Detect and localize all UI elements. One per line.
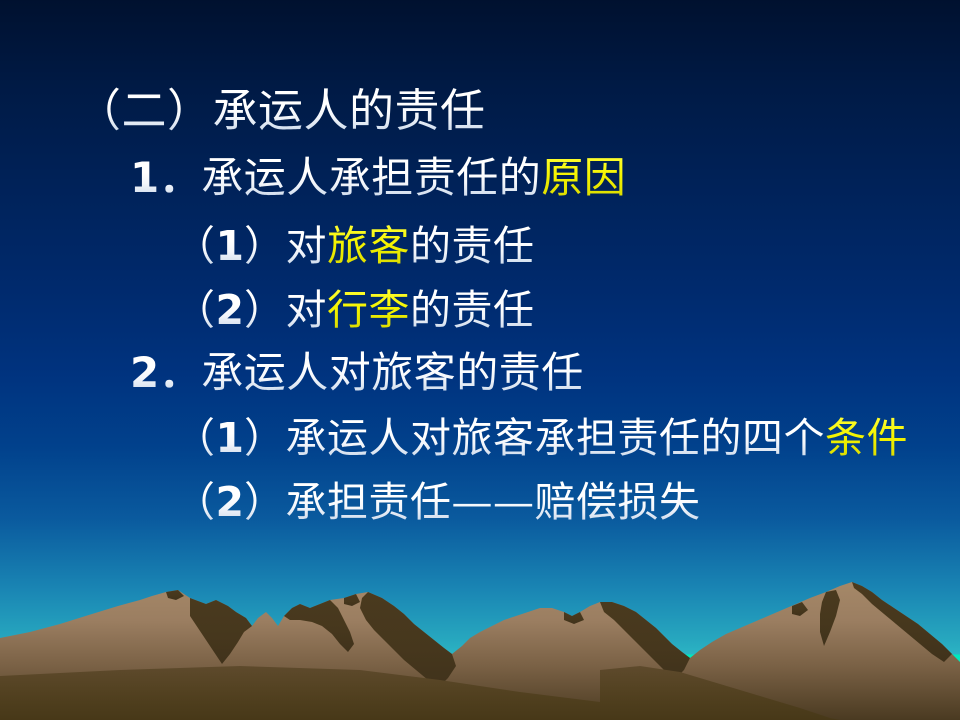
bullet-1-text: 承运人承担责任的 bbox=[201, 153, 541, 202]
bullet-item-1-sub-2: （2）对行李的责任 bbox=[174, 290, 535, 331]
sub-1-1-highlight: 旅客 bbox=[327, 222, 410, 270]
bullet-2-dot: ． bbox=[159, 348, 201, 397]
sub-1-1-text-b: 的责任 bbox=[410, 222, 535, 270]
sub-2-1-highlight: 条件 bbox=[825, 414, 908, 462]
sub-1-2-number: 2 bbox=[216, 286, 245, 334]
sub-2-2-text: 承担责任——赔偿损失 bbox=[286, 478, 701, 526]
slide-text-body: （二）承运人的责任 1．承运人承担责任的原因 （1）对旅客的责任 （2）对行李的… bbox=[0, 0, 960, 560]
sub-1-2-text-a: 对 bbox=[286, 286, 328, 334]
sub-1-1-paren-open: （ bbox=[174, 222, 216, 270]
bullet-item-1-sub-1: （1）对旅客的责任 bbox=[174, 226, 535, 267]
sub-1-1-text-a: 对 bbox=[286, 222, 328, 270]
sub-2-2-number: 2 bbox=[216, 478, 245, 526]
title-text: （二）承运人的责任 bbox=[76, 84, 486, 137]
sub-1-2-highlight: 行李 bbox=[327, 286, 410, 334]
bullet-item-2: 2．承运人对旅客的责任 bbox=[130, 352, 584, 394]
bullet-item-1: 1．承运人承担责任的原因 bbox=[130, 157, 626, 199]
sub-2-1-paren-open: （ bbox=[174, 414, 216, 462]
bullet-1-number: 1 bbox=[130, 153, 159, 202]
sub-1-1-paren-close: ） bbox=[244, 222, 286, 270]
bullet-2-number: 2 bbox=[130, 348, 159, 397]
sub-1-2-paren-close: ） bbox=[244, 286, 286, 334]
sub-2-1-number: 1 bbox=[216, 414, 245, 462]
sub-1-2-text-b: 的责任 bbox=[410, 286, 535, 334]
sub-2-1-paren-close: ） bbox=[244, 414, 286, 462]
sub-1-2-paren-open: （ bbox=[174, 286, 216, 334]
bullet-2-text: 承运人对旅客的责任 bbox=[201, 348, 584, 397]
slide-title: （二）承运人的责任 bbox=[76, 88, 486, 133]
sub-2-1-text: 承运人对旅客承担责任的四个 bbox=[286, 414, 826, 462]
bullet-item-2-sub-1: （1）承运人对旅客承担责任的四个条件 bbox=[174, 418, 908, 459]
bullet-1-dot: ． bbox=[159, 153, 201, 202]
bullet-item-2-sub-2: （2）承担责任——赔偿损失 bbox=[174, 482, 701, 523]
sub-2-2-paren-close: ） bbox=[244, 478, 286, 526]
bullet-1-highlight: 原因 bbox=[541, 153, 626, 202]
presentation-slide: （二）承运人的责任 1．承运人承担责任的原因 （1）对旅客的责任 （2）对行李的… bbox=[0, 0, 960, 720]
sub-2-2-paren-open: （ bbox=[174, 478, 216, 526]
sub-1-1-number: 1 bbox=[216, 222, 245, 270]
